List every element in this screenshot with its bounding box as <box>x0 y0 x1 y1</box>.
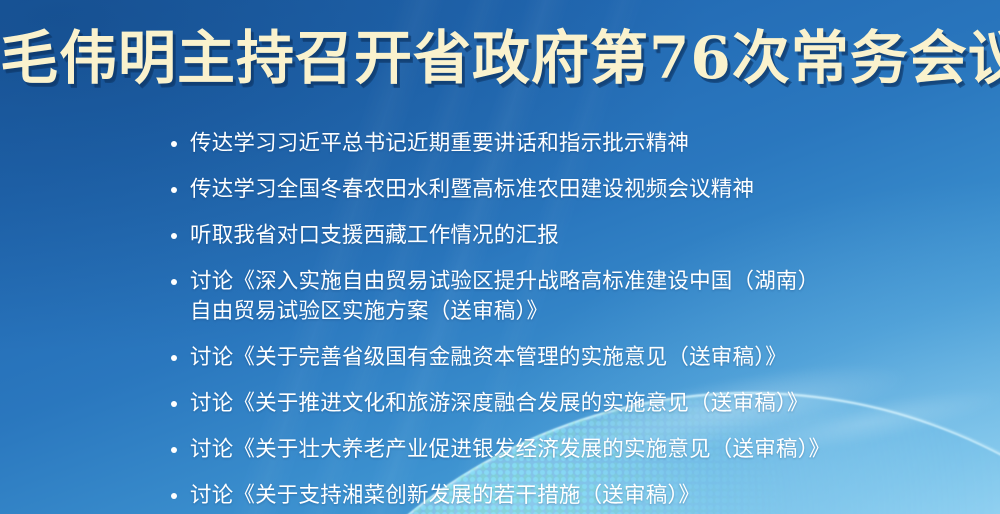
agenda-item-text: 讨论《关于推进文化和旅游深度融合发展的实施意见（送审稿）》 <box>190 388 960 418</box>
bullet-dot-icon <box>171 493 177 499</box>
bullet-dot-icon <box>171 233 177 239</box>
agenda-item-line: 讨论《深入实施自由贸易试验区提升战略高标准建设中国（湖南） <box>190 266 960 296</box>
agenda-item: 讨论《关于壮大养老产业促进银发经济发展的实施意见（送审稿）》 <box>168 434 960 464</box>
agenda-item-text: 讨论《关于壮大养老产业促进银发经济发展的实施意见（送审稿）》 <box>190 434 960 464</box>
agenda-item-line: 讨论《关于壮大养老产业促进银发经济发展的实施意见（送审稿）》 <box>190 434 960 464</box>
agenda-item-text: 讨论《深入实施自由贸易试验区提升战略高标准建设中国（湖南）自由贸易试验区实施方案… <box>190 266 960 326</box>
agenda-item-text: 讨论《关于完善省级国有金融资本管理的实施意见（送审稿）》 <box>190 342 960 372</box>
agenda-item: 讨论《深入实施自由贸易试验区提升战略高标准建设中国（湖南）自由贸易试验区实施方案… <box>168 266 960 326</box>
agenda-item: 讨论《关于支持湘菜创新发展的若干措施（送审稿）》 <box>168 480 960 510</box>
bullet-dot-icon <box>171 447 177 453</box>
page-title: 毛伟明主持召开省政府第76次常务会议 <box>0 22 1000 94</box>
agenda-item-line: 讨论《关于完善省级国有金融资本管理的实施意见（送审稿）》 <box>190 342 960 372</box>
agenda-item: 听取我省对口支援西藏工作情况的汇报 <box>168 220 960 250</box>
bullet-dot-icon <box>171 279 177 285</box>
agenda-item-line: 讨论《关于支持湘菜创新发展的若干措施（送审稿）》 <box>190 480 960 510</box>
agenda-item-text: 讨论《关于支持湘菜创新发展的若干措施（送审稿）》 <box>190 480 960 510</box>
agenda-item-text: 传达学习习近平总书记近期重要讲话和指示批示精神 <box>190 128 960 158</box>
agenda-list: 传达学习习近平总书记近期重要讲话和指示批示精神传达学习全国冬春农田水利暨高标准农… <box>168 128 960 510</box>
agenda-item: 讨论《关于完善省级国有金融资本管理的实施意见（送审稿）》 <box>168 342 960 372</box>
agenda-item-text: 听取我省对口支援西藏工作情况的汇报 <box>190 220 960 250</box>
agenda-item-text: 传达学习全国冬春农田水利暨高标准农田建设视频会议精神 <box>190 174 960 204</box>
agenda-item-line: 听取我省对口支援西藏工作情况的汇报 <box>190 220 960 250</box>
bullet-dot-icon <box>171 401 177 407</box>
agenda-item-line: 传达学习全国冬春农田水利暨高标准农田建设视频会议精神 <box>190 174 960 204</box>
agenda-item-line: 自由贸易试验区实施方案（送审稿）》 <box>190 296 960 326</box>
bullet-dot-icon <box>171 187 177 193</box>
agenda-item: 传达学习全国冬春农田水利暨高标准农田建设视频会议精神 <box>168 174 960 204</box>
agenda-item-line: 传达学习习近平总书记近期重要讲话和指示批示精神 <box>190 128 960 158</box>
bullet-dot-icon <box>171 141 177 147</box>
agenda-item: 传达学习习近平总书记近期重要讲话和指示批示精神 <box>168 128 960 158</box>
agenda-item-line: 讨论《关于推进文化和旅游深度融合发展的实施意见（送审稿）》 <box>190 388 960 418</box>
bullet-dot-icon <box>171 355 177 361</box>
agenda-item: 讨论《关于推进文化和旅游深度融合发展的实施意见（送审稿）》 <box>168 388 960 418</box>
poster-canvas: 毛伟明主持召开省政府第76次常务会议 传达学习习近平总书记近期重要讲话和指示批示… <box>0 0 1000 514</box>
